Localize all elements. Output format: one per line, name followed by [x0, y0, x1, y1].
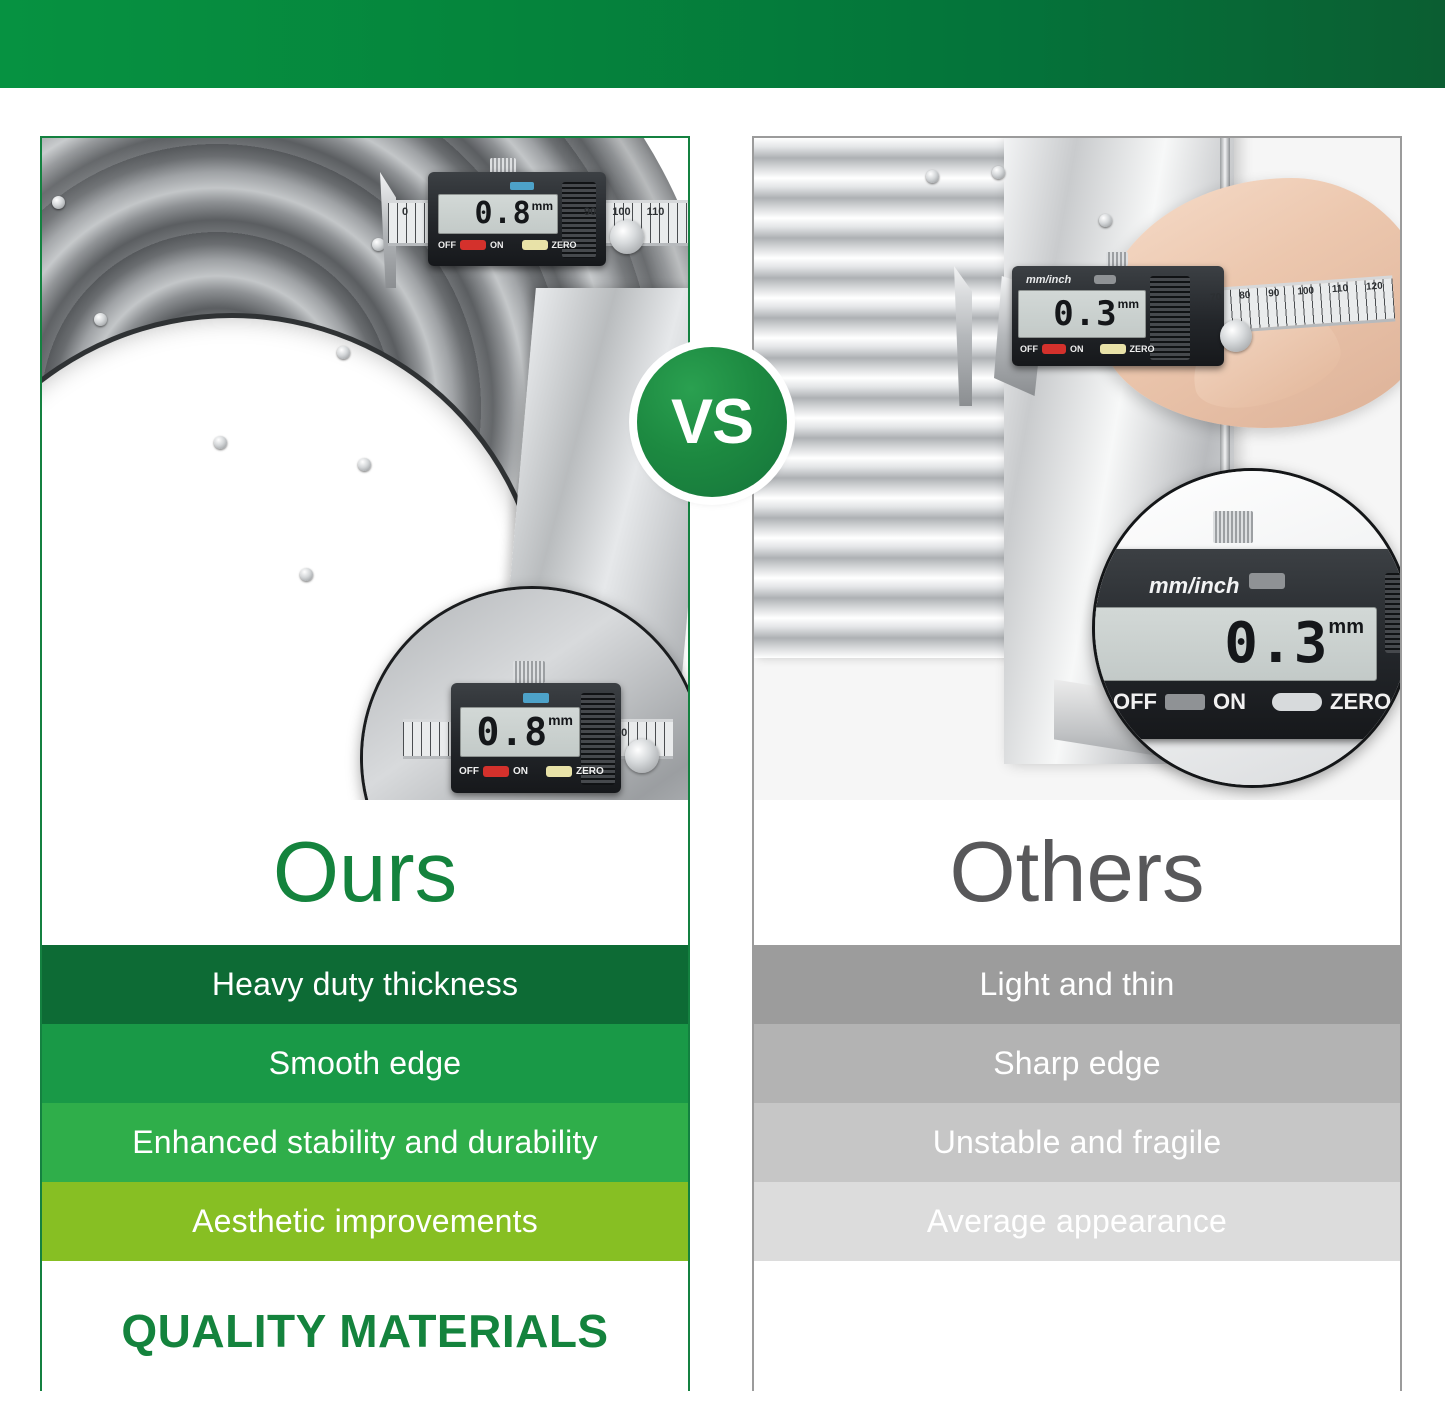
caliper-button-row: OFF ON ZERO	[1020, 342, 1180, 356]
inset-caliper-zero-switch	[546, 766, 572, 777]
inset-digital-caliper-ours: 0.8 mm OFF ON ZERO 90	[403, 647, 673, 800]
others-footer	[754, 1261, 1400, 1401]
caliper-value: 0.8	[474, 199, 531, 229]
scale-tick: 120	[1366, 281, 1383, 293]
others-feature-bar-4: Average appearance	[754, 1182, 1400, 1261]
caliper-off-label: OFF	[438, 240, 456, 250]
inset-caliper-off-label: OFF	[1113, 689, 1157, 715]
others-feature-bar-3: Unstable and fragile	[754, 1103, 1400, 1182]
inset-caliper-display: 0.3 mm	[1092, 607, 1377, 681]
scale-tick: 100	[1297, 285, 1314, 297]
caliper-roller	[1220, 320, 1252, 352]
bolt-icon	[358, 458, 371, 471]
top-green-banner	[0, 0, 1445, 88]
inset-digital-caliper-others: mm/inch 0.3 mm OFF ON ZERO	[1092, 511, 1400, 741]
ours-product-photo: 0.8 mm OFF ON ZERO 90 100 110 0	[42, 138, 688, 800]
others-feature-bar-2: Sharp edge	[754, 1024, 1400, 1103]
caliper-display: 0.8 mm	[438, 194, 558, 234]
inset-caliper-on-label: ON	[513, 766, 528, 777]
inset-caliper-value: 0.3	[1224, 616, 1328, 672]
bolt-icon	[94, 313, 107, 326]
inset-scale-tick: 90	[615, 727, 627, 739]
caliper-zero-switch	[522, 240, 548, 250]
ours-title-box: Ours	[42, 800, 688, 945]
others-feature-label-3: Unstable and fragile	[933, 1124, 1222, 1161]
inset-caliper-value: 0.8	[476, 713, 548, 751]
others-feature-label-4: Average appearance	[927, 1203, 1227, 1240]
caliper-mode-label: mm/inch	[1026, 274, 1071, 286]
others-feature-bar-1: Light and thin	[754, 945, 1400, 1024]
vs-badge: VS	[637, 347, 787, 497]
caliper-zero-switch	[1100, 344, 1126, 354]
caliper-button-row: OFF ON ZERO	[438, 238, 588, 252]
caliper-unit: mm	[532, 199, 553, 213]
inset-caliper-zero-switch	[1272, 693, 1322, 711]
inset-caliper-thumb-knob	[1213, 511, 1253, 543]
inset-caliper-mode-label: mm/inch	[1149, 573, 1239, 599]
inset-caliper-mode-button	[523, 693, 549, 703]
ours-feature-bar-4: Aesthetic improvements	[42, 1182, 688, 1261]
quality-materials-text: QUALITY MATERIALS	[121, 1304, 608, 1358]
caliper-display: 0.3 mm	[1018, 290, 1146, 338]
inset-caliper-button-row: OFF ON ZERO	[1113, 689, 1400, 715]
ours-feature-label-1: Heavy duty thickness	[212, 966, 518, 1003]
ours-feature-label-3: Enhanced stability and durability	[132, 1124, 598, 1161]
inset-caliper-roller	[625, 739, 659, 773]
digital-caliper-ours: 0.8 mm OFF ON ZERO 90 100 110 0	[372, 158, 688, 288]
ours-title: Ours	[273, 830, 457, 915]
caliper-thumb-knob	[1106, 252, 1128, 266]
caliper-roller	[610, 220, 644, 254]
caliper-power-switch	[460, 240, 486, 250]
digital-caliper-others: mm/inch 0.3 mm OFF ON ZERO 70 8	[954, 248, 1374, 378]
ours-feature-bar-1: Heavy duty thickness	[42, 945, 688, 1024]
caliper-zero-label: ZERO	[552, 240, 577, 250]
ours-feature-bars: Heavy duty thickness Smooth edge Enhance…	[42, 945, 688, 1261]
inset-caliper-unit: mm	[1328, 616, 1364, 639]
inset-caliper-power-switch	[1165, 694, 1205, 710]
bolt-icon	[337, 346, 350, 359]
inset-caliper-mode-button	[1249, 573, 1285, 589]
ours-feature-bar-2: Smooth edge	[42, 1024, 688, 1103]
bolt-icon	[52, 196, 65, 209]
ours-zoom-inset: 0.8 mm OFF ON ZERO 90	[360, 586, 688, 800]
caliper-scale-numbers: 90 100 110	[584, 206, 688, 218]
inset-caliper-button-row: OFF ON ZERO	[459, 763, 609, 779]
corrugated-sheet-image	[754, 138, 1044, 658]
others-feature-label-1: Light and thin	[980, 966, 1175, 1003]
bolt-icon	[300, 568, 313, 581]
others-panel: mm/inch 0.3 mm OFF ON ZERO 70 8	[752, 136, 1402, 1391]
inset-caliper-zero-label: ZERO	[1330, 689, 1391, 715]
scale-tick: 90	[1268, 288, 1280, 300]
inset-caliper-power-switch	[483, 766, 509, 777]
ours-footer: QUALITY MATERIALS	[42, 1261, 688, 1401]
ours-feature-bar-3: Enhanced stability and durability	[42, 1103, 688, 1182]
inset-caliper-off-label: OFF	[459, 766, 479, 777]
inset-caliper-display: 0.8 mm	[460, 707, 580, 757]
inset-caliper-zero-label: ZERO	[576, 766, 604, 777]
ours-feature-label-4: Aesthetic improvements	[192, 1203, 538, 1240]
bolt-icon	[926, 170, 939, 183]
scale-tick: 80	[1239, 290, 1251, 302]
scale-tick: 110	[1332, 283, 1349, 295]
caliper-zero-label: ZERO	[1130, 344, 1155, 354]
inset-caliper-thumb-knob	[513, 661, 545, 683]
inset-caliper-grip-ridges	[1385, 573, 1400, 653]
vs-label: VS	[671, 386, 753, 458]
scale-tick: 110	[647, 206, 665, 218]
others-title-box: Others	[754, 800, 1400, 945]
caliper-on-label: ON	[1070, 344, 1084, 354]
caliper-value: 0.3	[1053, 297, 1117, 331]
others-title: Others	[949, 830, 1204, 915]
caliper-mode-button	[510, 182, 534, 190]
caliper-unit: mm	[1118, 297, 1139, 311]
scale-tick: 90	[584, 206, 596, 218]
inset-caliper-unit: mm	[548, 712, 573, 728]
others-product-photo: mm/inch 0.3 mm OFF ON ZERO 70 8	[754, 138, 1400, 800]
comparison-infographic: 0.8 mm OFF ON ZERO 90 100 110 0	[0, 0, 1445, 1401]
bolt-icon	[214, 436, 227, 449]
caliper-on-label: ON	[490, 240, 504, 250]
others-feature-label-2: Sharp edge	[993, 1045, 1160, 1082]
others-zoom-inset: mm/inch 0.3 mm OFF ON ZERO	[1092, 468, 1400, 788]
scale-tick: 70	[1210, 292, 1222, 304]
caliper-off-label: OFF	[1020, 344, 1038, 354]
inset-caliper-on-label: ON	[1213, 689, 1246, 715]
bolt-icon	[992, 166, 1005, 179]
caliper-power-switch	[1042, 344, 1066, 354]
caliper-mode-button	[1094, 275, 1116, 284]
caliper-zero-tick: 0	[402, 206, 408, 218]
scale-tick: 100	[612, 206, 630, 218]
ours-panel: 0.8 mm OFF ON ZERO 90 100 110 0	[40, 136, 690, 1391]
bolt-icon	[1099, 214, 1112, 227]
ours-feature-label-2: Smooth edge	[269, 1045, 462, 1082]
others-feature-bars: Light and thin Sharp edge Unstable and f…	[754, 945, 1400, 1261]
